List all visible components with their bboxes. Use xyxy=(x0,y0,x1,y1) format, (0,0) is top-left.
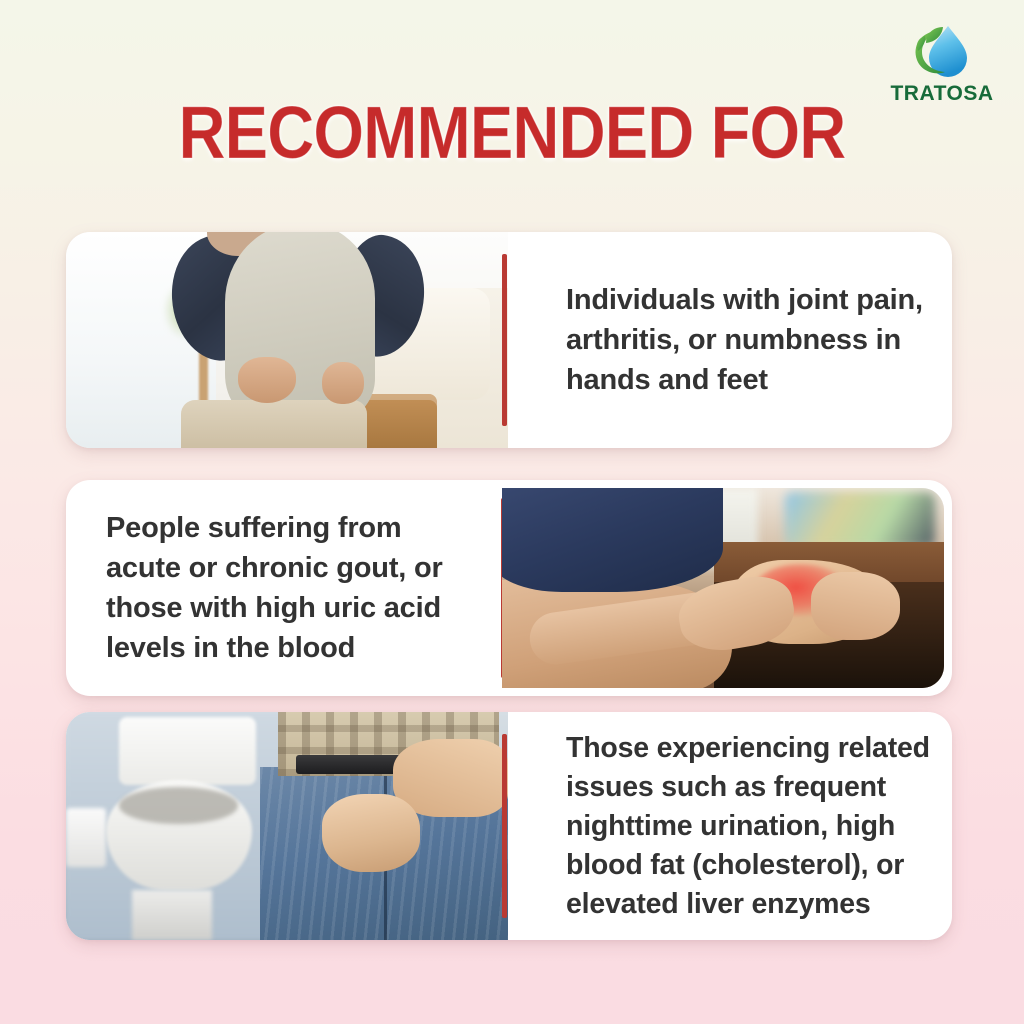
recommendation-card-joint-pain: Individuals with joint pain, arthritis, … xyxy=(66,232,952,448)
recommendation-card-related-issues: Those experiencing related issues such a… xyxy=(66,712,952,940)
card-text-block-related-issues: Those experiencing related issues such a… xyxy=(508,712,952,940)
accent-rule xyxy=(502,734,507,918)
accent-rule xyxy=(502,254,507,426)
card-image-related-issues xyxy=(66,712,508,940)
water-droplet-leaf-icon xyxy=(910,22,974,80)
page-title: RECOMMENDED FOR xyxy=(61,95,962,171)
card-text-related-issues: Those experiencing related issues such a… xyxy=(566,729,938,924)
card-text-gout: People suffering from acute or chronic g… xyxy=(106,508,472,668)
recommendation-card-gout: People suffering from acute or chronic g… xyxy=(66,480,952,696)
card-text-joint-pain: Individuals with joint pain, arthritis, … xyxy=(566,280,928,400)
card-image-gout xyxy=(502,488,944,688)
card-text-block-joint-pain: Individuals with joint pain, arthritis, … xyxy=(508,232,952,448)
card-text-block-gout: People suffering from acute or chronic g… xyxy=(66,480,502,696)
card-image-joint-pain xyxy=(66,232,508,448)
